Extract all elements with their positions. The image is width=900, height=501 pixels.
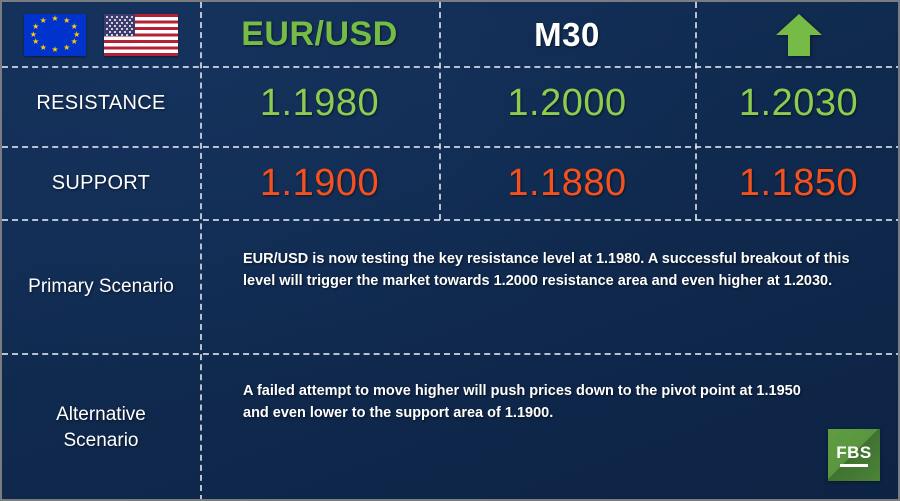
resistance-value-3: 1.2030 [695, 67, 900, 139]
fbs-logo-underline [840, 464, 868, 467]
resistance-label-text: RESISTANCE [36, 92, 165, 115]
fbs-logo-text: FBS [836, 444, 872, 461]
fbs-logo: FBS [828, 429, 880, 481]
trend-cell [695, 2, 900, 67]
alternative-scenario-label-text: Alternative Scenario [56, 402, 146, 454]
support-value-2: 1.1880 [439, 147, 695, 219]
divider-header-bottom [2, 66, 900, 68]
support-value-1: 1.1900 [200, 147, 439, 219]
us-flag [104, 14, 178, 56]
primary-scenario-text: EUR/USD is now testing the key resistanc… [243, 248, 863, 292]
alternative-scenario-text: A failed attempt to move higher will pus… [243, 380, 803, 424]
divider-primary-bottom [2, 353, 900, 355]
arrow-up-icon [775, 13, 823, 57]
timeframe-cell: M30 [439, 2, 695, 67]
currency-pair-cell: EUR/USD [200, 2, 439, 67]
flag-pair: ★ ★ ★ ★ ★ ★ ★ ★ ★ ★ ★ ★ [2, 2, 200, 67]
divider-support-bottom [2, 219, 900, 221]
us-flag-canton [104, 14, 135, 37]
divider-resistance-bottom [2, 146, 900, 148]
divider-column-2 [439, 2, 441, 220]
divider-column-1 [200, 2, 202, 501]
resistance-value-1: 1.1980 [200, 67, 439, 139]
support-label-text: SUPPORT [52, 172, 150, 195]
eu-flag: ★ ★ ★ ★ ★ ★ ★ ★ ★ ★ ★ ★ [24, 14, 86, 56]
support-row-label: SUPPORT [2, 147, 200, 219]
resistance-value-2: 1.2000 [439, 67, 695, 139]
support-value-3: 1.1850 [695, 147, 900, 219]
alternative-scenario-label: Alternative Scenario [2, 354, 200, 501]
currency-pair-label: EUR/USD [241, 15, 398, 54]
primary-scenario-label: Primary Scenario [2, 220, 200, 354]
forex-signal-card: ★ ★ ★ ★ ★ ★ ★ ★ ★ ★ ★ ★ [0, 0, 900, 501]
resistance-row-label: RESISTANCE [2, 67, 200, 139]
divider-column-3 [695, 2, 697, 220]
timeframe-label: M30 [534, 16, 600, 54]
